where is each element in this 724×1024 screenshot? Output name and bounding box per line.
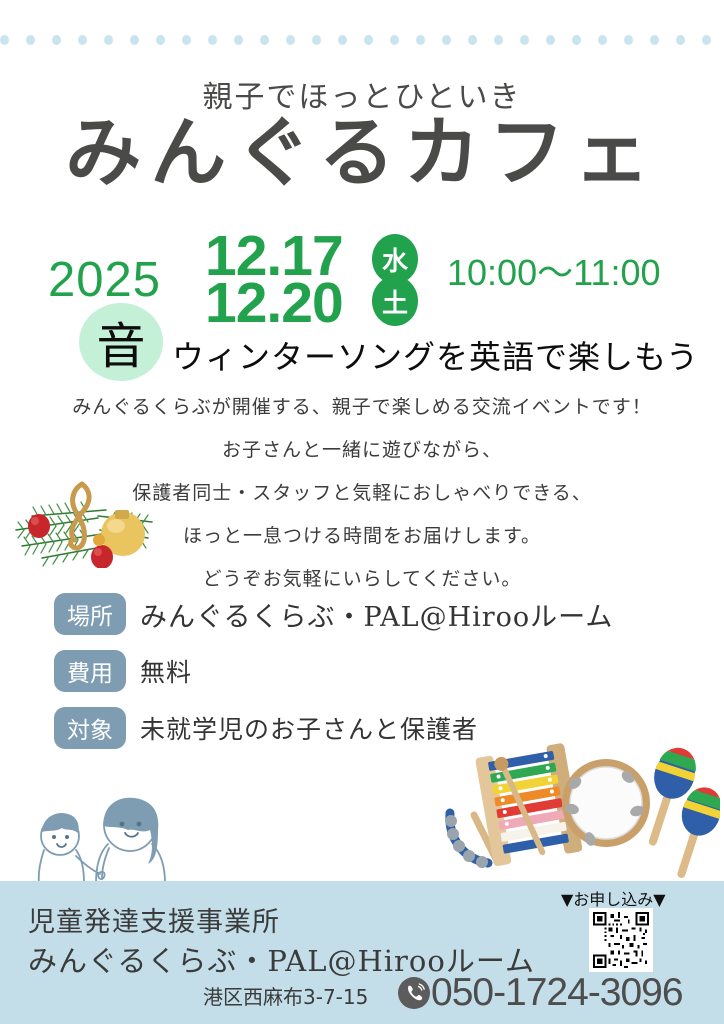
- detail-value-fee: 無料: [140, 653, 192, 689]
- divider-dot: [650, 35, 659, 45]
- detail-row-location: 場所 みんぐるくらぶ・PAL@Hirooルーム: [54, 592, 694, 636]
- divider-dot: [468, 35, 477, 45]
- divider-dot: [624, 35, 633, 45]
- detail-label-audience: 対象: [54, 707, 126, 749]
- detail-value-audience: 未就学児のお子さんと保護者: [140, 710, 478, 746]
- address-text: 港区西麻布3-7-15: [203, 981, 368, 1010]
- phone-block[interactable]: 050-1724-3096: [397, 971, 683, 1015]
- divider-dot: [572, 35, 581, 45]
- divider-dot: [364, 35, 373, 45]
- divider-dot: [78, 35, 87, 45]
- phone-icon: [397, 976, 431, 1010]
- divider-dot: [520, 35, 529, 45]
- divider-dot: [182, 35, 191, 45]
- divider-dot: [312, 35, 321, 45]
- event-time-range: 10:00〜11:00: [447, 244, 661, 296]
- theme-text: ウィンターソングを英語で楽しもう: [172, 332, 699, 378]
- qr-code-icon[interactable]: [589, 908, 653, 972]
- divider-dot: [416, 35, 425, 45]
- divider-dot: [494, 35, 503, 45]
- divider-dot: [442, 35, 451, 45]
- divider-dot: [234, 35, 243, 45]
- flyer-title: みんぐるカフェ: [0, 112, 724, 194]
- divider-dot: [390, 35, 399, 45]
- toy-instruments-illustration-icon: [438, 735, 720, 880]
- divider-dot: [598, 35, 607, 45]
- day-of-week-badge-2: 土: [372, 276, 418, 326]
- detail-label-location: 場所: [54, 593, 126, 635]
- body-line: 保護者同士・スタッフと気軽におしゃべりできる、: [0, 484, 724, 503]
- divider-dot: [546, 35, 555, 45]
- christmas-pine-decoration-icon: [2, 460, 174, 568]
- divider-dot: [26, 35, 35, 45]
- detail-value-location: みんぐるくらぶ・PAL@Hirooルーム: [140, 595, 613, 634]
- detail-row-fee: 費用 無料: [54, 649, 694, 693]
- divider-dot: [104, 35, 113, 45]
- theme-badge: 音: [79, 303, 163, 381]
- detail-label-fee: 費用: [54, 650, 126, 692]
- divider-dot: [338, 35, 347, 45]
- body-line: みんぐるくらぶが開催する、親子で楽しめる交流イベントです！: [0, 398, 724, 417]
- divider-dot: [208, 35, 217, 45]
- event-year: 2025: [48, 252, 161, 308]
- organization-type: 児童発達支援事業所: [28, 900, 280, 939]
- parent-and-child-illustration-icon: [12, 778, 212, 883]
- divider-dot: [52, 35, 61, 45]
- divider-dot: [702, 35, 711, 45]
- body-line: どうぞお気軽にいらしてください。: [0, 570, 724, 589]
- event-date-2: 12.20: [205, 275, 343, 332]
- apply-label: ▼お申し込み▼: [561, 886, 666, 910]
- divider-dot: [286, 35, 295, 45]
- divider-dot: [130, 35, 139, 45]
- dotted-divider: [0, 34, 724, 46]
- divider-dot: [0, 35, 9, 45]
- divider-dot: [260, 35, 269, 45]
- phone-number: 050-1724-3096: [431, 971, 683, 1015]
- divider-dot: [156, 35, 165, 45]
- body-line: ほっと一息つける時間をお届けします。: [0, 527, 724, 546]
- flyer-page: 親子でほっとひといき みんぐるカフェ 2025 12.17 12.20 水 土 …: [0, 0, 724, 1024]
- divider-dot: [676, 35, 685, 45]
- body-line: お子さんと一緒に遊びながら、: [0, 441, 724, 460]
